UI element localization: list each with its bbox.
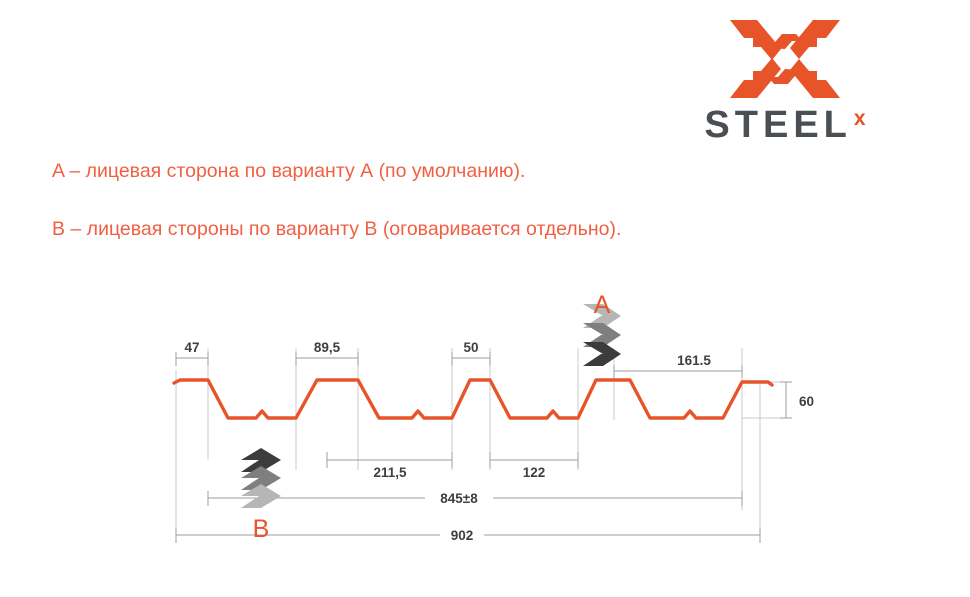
steelx-x-mark-icon — [730, 18, 840, 100]
dim-50-label: 50 — [463, 340, 478, 355]
logo-steel-text: STEEL — [704, 106, 851, 144]
dim-60-label: 60 — [799, 394, 814, 409]
dim-902-label: 902 — [451, 528, 474, 543]
marker-a-label: A — [594, 291, 611, 319]
marker-b-icon — [241, 448, 281, 508]
dim-89-5-label: 89,5 — [314, 340, 341, 355]
steelx-wordmark: STEEL x — [685, 106, 885, 144]
note-variant-b: B – лицевая стороны по варианту B (огова… — [52, 218, 621, 241]
profile-drawing: 47 89,5 50 161.5 60 211,5 122 — [0, 270, 970, 570]
note-variant-a: A – лицевая сторона по варианту А (по ум… — [52, 160, 525, 183]
marker-b-label: B — [253, 515, 270, 543]
dim-47-label: 47 — [184, 340, 199, 355]
dim-161-5-label: 161.5 — [677, 353, 711, 368]
dim-845-label: 845±8 — [440, 491, 478, 506]
logo-superscript-x: x — [854, 108, 866, 129]
sheet-profile-path — [174, 380, 772, 418]
dim-211-5-label: 211,5 — [373, 465, 407, 480]
brand-logo: STEEL x — [685, 18, 885, 143]
dim-122-label: 122 — [523, 465, 546, 480]
dim-60-line — [780, 382, 792, 418]
